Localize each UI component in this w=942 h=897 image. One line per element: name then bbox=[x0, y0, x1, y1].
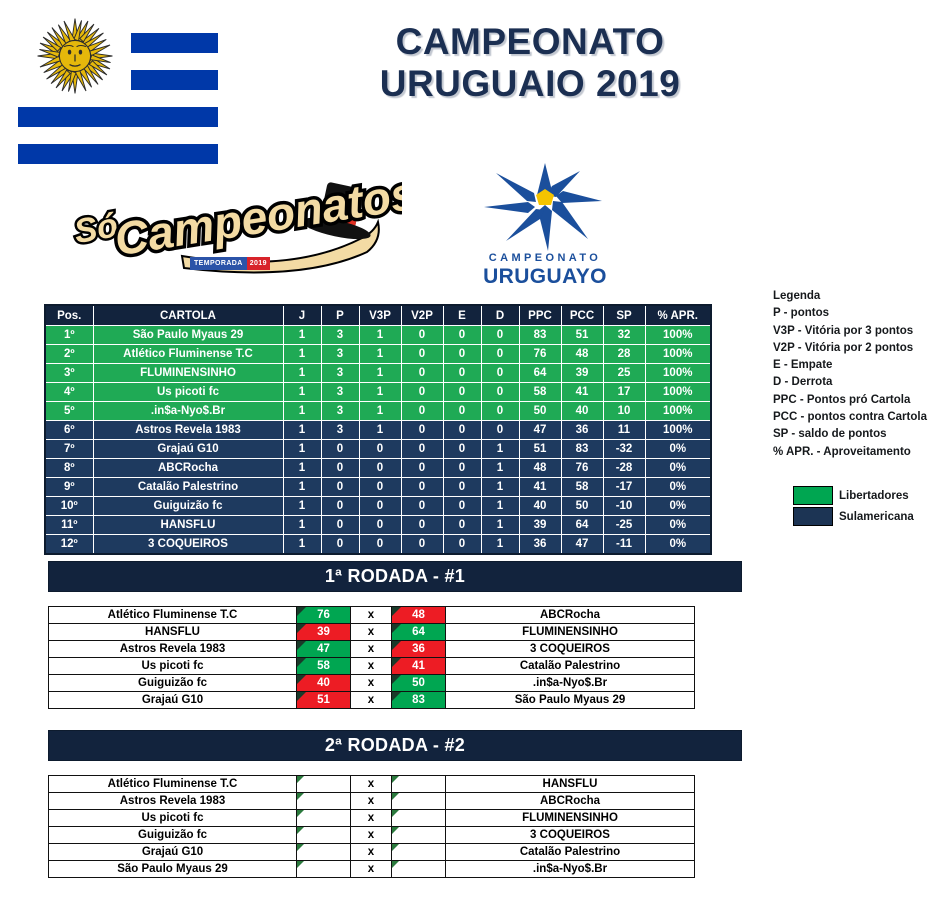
match-separator: x bbox=[351, 793, 392, 810]
standings-cell-apr: 0% bbox=[645, 516, 711, 535]
standings-cell-v3p: 1 bbox=[359, 345, 401, 364]
match-away-score[interactable] bbox=[392, 793, 446, 810]
match-away-score[interactable] bbox=[392, 776, 446, 793]
match-away-score[interactable]: 41 bbox=[392, 658, 446, 675]
standings-cell-v2p: 0 bbox=[401, 364, 443, 383]
standings-row: 5º.in$a-Nyo$.Br131000504010100% bbox=[45, 402, 711, 421]
temporada-badge-label: TEMPORADA bbox=[190, 257, 247, 270]
standings-cell-ppc: 48 bbox=[519, 459, 561, 478]
legend-line: PCC - pontos contra Cartola bbox=[773, 409, 942, 426]
standings-cell-e: 0 bbox=[443, 497, 481, 516]
match-home-team: Astros Revela 1983 bbox=[49, 641, 297, 658]
standings-cell-v3p: 1 bbox=[359, 421, 401, 440]
standings-cell-pos: 9º bbox=[45, 478, 93, 497]
match-away-team: .in$a-Nyo$.Br bbox=[446, 861, 695, 878]
standings-cell-pcc: 47 bbox=[561, 535, 603, 555]
standings-col-pcc: PCC bbox=[561, 305, 603, 326]
legend-line: V3P - Vitória por 3 pontos bbox=[773, 323, 942, 340]
match-away-team: FLUMINENSINHO bbox=[446, 810, 695, 827]
match-home-team: Us picoti fc bbox=[49, 810, 297, 827]
standings-cell-sp: 10 bbox=[603, 402, 645, 421]
match-separator: x bbox=[351, 810, 392, 827]
match-home-score[interactable] bbox=[297, 793, 351, 810]
match-away-team: Catalão Palestrino bbox=[446, 658, 695, 675]
match-away-score[interactable] bbox=[392, 810, 446, 827]
standings-cell-apr: 100% bbox=[645, 383, 711, 402]
standings-cell-ppc: 51 bbox=[519, 440, 561, 459]
match-away-score[interactable]: 48 bbox=[392, 607, 446, 624]
standings-cell-apr: 0% bbox=[645, 497, 711, 516]
legend-title: Legenda bbox=[773, 288, 942, 305]
standings-cell-pcc: 48 bbox=[561, 345, 603, 364]
standings-cell-name: Astros Revela 1983 bbox=[93, 421, 283, 440]
match-home-team: Grajaú G10 bbox=[49, 844, 297, 861]
standings-cell-name: Us picoti fc bbox=[93, 383, 283, 402]
match-row: Grajaú G1051x83São Paulo Myaus 29 bbox=[49, 692, 695, 709]
standings-cell-name: Grajaú G10 bbox=[93, 440, 283, 459]
standings-col-pos: Pos. bbox=[45, 305, 93, 326]
standings-cell-sp: 32 bbox=[603, 326, 645, 345]
legend-line: D - Derrota bbox=[773, 374, 942, 391]
standings-cell-j: 1 bbox=[283, 383, 321, 402]
match-away-score[interactable]: 64 bbox=[392, 624, 446, 641]
standings-cell-p: 3 bbox=[321, 383, 359, 402]
standings-cell-v3p: 1 bbox=[359, 364, 401, 383]
standings-cell-p: 3 bbox=[321, 326, 359, 345]
match-home-score[interactable]: 76 bbox=[297, 607, 351, 624]
standings-cell-sp: -10 bbox=[603, 497, 645, 516]
standings-cell-e: 0 bbox=[443, 364, 481, 383]
standings-cell-ppc: 36 bbox=[519, 535, 561, 555]
match-home-score[interactable]: 47 bbox=[297, 641, 351, 658]
standings-cell-pos: 11º bbox=[45, 516, 93, 535]
standings-cell-v2p: 0 bbox=[401, 421, 443, 440]
standings-cell-pos: 12º bbox=[45, 535, 93, 555]
standings-cell-pcc: 41 bbox=[561, 383, 603, 402]
standings-cell-j: 1 bbox=[283, 402, 321, 421]
match-row: Guiguizão fc40x50.in$a-Nyo$.Br bbox=[49, 675, 695, 692]
standings-cell-pcc: 40 bbox=[561, 402, 603, 421]
match-away-team: HANSFLU bbox=[446, 776, 695, 793]
match-away-team: São Paulo Myaus 29 bbox=[446, 692, 695, 709]
round-banner-1-label: 1ª RODADA - #1 bbox=[325, 566, 465, 587]
standings-cell-v3p: 1 bbox=[359, 326, 401, 345]
match-home-team: Guiguizão fc bbox=[49, 675, 297, 692]
standings-cell-d: 1 bbox=[481, 440, 519, 459]
standings-cell-pos: 3º bbox=[45, 364, 93, 383]
standings-cell-sp: 17 bbox=[603, 383, 645, 402]
standings-cell-e: 0 bbox=[443, 459, 481, 478]
standings-cell-v2p: 0 bbox=[401, 345, 443, 364]
match-away-team: 3 COQUEIROS bbox=[446, 827, 695, 844]
match-home-team: Atlético Fluminense T.C bbox=[49, 607, 297, 624]
standings-col-ppc: PPC bbox=[519, 305, 561, 326]
campeonato-uruguayo-logo: CAMPEONATO URUGUAYO bbox=[470, 155, 620, 285]
standings-cell-sp: -11 bbox=[603, 535, 645, 555]
standings-cell-j: 1 bbox=[283, 478, 321, 497]
standings-cell-pcc: 39 bbox=[561, 364, 603, 383]
legend-key-label: Libertadores bbox=[839, 490, 909, 502]
standings-cell-apr: 100% bbox=[645, 326, 711, 345]
uruguayo-logo-line-1: CAMPEONATO bbox=[470, 252, 620, 264]
standings-cell-sp: -32 bbox=[603, 440, 645, 459]
match-separator: x bbox=[351, 827, 392, 844]
legend-swatch bbox=[793, 486, 833, 505]
standings-cell-p: 3 bbox=[321, 364, 359, 383]
standings-row: 1ºSão Paulo Myaus 29131000835132100% bbox=[45, 326, 711, 345]
standings-cell-pos: 8º bbox=[45, 459, 93, 478]
legend-line: SP - saldo de pontos bbox=[773, 426, 942, 443]
match-row: Atlético Fluminense T.CxHANSFLU bbox=[49, 776, 695, 793]
page-title-line-1: CAMPEONATO bbox=[396, 22, 665, 62]
standings-cell-name: ABCRocha bbox=[93, 459, 283, 478]
standings-cell-d: 0 bbox=[481, 402, 519, 421]
standings-cell-e: 0 bbox=[443, 440, 481, 459]
standings-cell-ppc: 40 bbox=[519, 497, 561, 516]
standings-cell-e: 0 bbox=[443, 383, 481, 402]
standings-header-row: Pos. CARTOLA J P V3P V2P E D PPC PCC SP … bbox=[45, 305, 711, 326]
standings-cell-pos: 1º bbox=[45, 326, 93, 345]
match-separator: x bbox=[351, 844, 392, 861]
standings-cell-j: 1 bbox=[283, 535, 321, 555]
standings-row: 10ºGuiguizão fc1000014050-100% bbox=[45, 497, 711, 516]
standings-cell-p: 0 bbox=[321, 440, 359, 459]
match-separator: x bbox=[351, 658, 392, 675]
legend-line: PPC - Pontos pró Cartola bbox=[773, 392, 942, 409]
header-area: CAMPEONATO URUGUAIO 2019 Só Só Campeonat… bbox=[0, 0, 942, 290]
legend-line: E - Empate bbox=[773, 357, 942, 374]
match-away-score[interactable] bbox=[392, 861, 446, 878]
matches-table-round-1: Atlético Fluminense T.C76x48ABCRochaHANS… bbox=[48, 606, 695, 709]
standings-cell-pos: 10º bbox=[45, 497, 93, 516]
standings-cell-pos: 6º bbox=[45, 421, 93, 440]
match-separator: x bbox=[351, 692, 392, 709]
match-away-team: Catalão Palestrino bbox=[446, 844, 695, 861]
standings-cell-p: 0 bbox=[321, 516, 359, 535]
standings-cell-e: 0 bbox=[443, 516, 481, 535]
match-away-score[interactable]: 36 bbox=[392, 641, 446, 658]
standings-cell-v3p: 0 bbox=[359, 516, 401, 535]
standings-cell-v2p: 0 bbox=[401, 516, 443, 535]
legend-color-keys: LibertadoresSulamericana bbox=[793, 485, 914, 527]
so-campeonatos-logo: Só Só Campeonatos Campeonatos TEMPORADA … bbox=[62, 178, 402, 283]
round-banner-2: 2ª RODADA - #2 bbox=[48, 730, 742, 761]
standings-row: 4ºUs picoti fc131000584117100% bbox=[45, 383, 711, 402]
legend-line: % APR. - Aproveitamento bbox=[773, 444, 942, 461]
match-home-score[interactable]: 40 bbox=[297, 675, 351, 692]
standings-cell-name: Guiguizão fc bbox=[93, 497, 283, 516]
standings-cell-ppc: 39 bbox=[519, 516, 561, 535]
match-separator: x bbox=[351, 607, 392, 624]
legend-line: V2P - Vitória por 2 pontos bbox=[773, 340, 942, 357]
flag-stripe bbox=[131, 33, 218, 53]
standings-cell-v3p: 1 bbox=[359, 402, 401, 421]
page-title-line-2: URUGUAIO 2019 bbox=[380, 64, 681, 104]
standings-cell-name: FLUMINENSINHO bbox=[93, 364, 283, 383]
standings-cell-e: 0 bbox=[443, 535, 481, 555]
standings-cell-d: 0 bbox=[481, 326, 519, 345]
standings-cell-e: 0 bbox=[443, 421, 481, 440]
standings-row: 8ºABCRocha1000014876-280% bbox=[45, 459, 711, 478]
standings-cell-d: 1 bbox=[481, 478, 519, 497]
uruguay-flag bbox=[18, 8, 218, 168]
standings-cell-v2p: 0 bbox=[401, 402, 443, 421]
match-row: São Paulo Myaus 29x.in$a-Nyo$.Br bbox=[49, 861, 695, 878]
match-away-score[interactable] bbox=[392, 844, 446, 861]
standings-col-j: J bbox=[283, 305, 321, 326]
standings-cell-v3p: 0 bbox=[359, 440, 401, 459]
standings-cell-p: 0 bbox=[321, 478, 359, 497]
standings-cell-e: 0 bbox=[443, 345, 481, 364]
standings-cell-e: 0 bbox=[443, 326, 481, 345]
standings-cell-apr: 100% bbox=[645, 345, 711, 364]
standings-col-apr: % APR. bbox=[645, 305, 711, 326]
match-home-team: Us picoti fc bbox=[49, 658, 297, 675]
standings-col-sp: SP bbox=[603, 305, 645, 326]
standings-cell-v3p: 0 bbox=[359, 535, 401, 555]
match-away-score[interactable]: 50 bbox=[392, 675, 446, 692]
standings-cell-pos: 4º bbox=[45, 383, 93, 402]
standings-cell-apr: 100% bbox=[645, 421, 711, 440]
standings-cell-v3p: 1 bbox=[359, 383, 401, 402]
standings-table: Pos. CARTOLA J P V3P V2P E D PPC PCC SP … bbox=[44, 304, 712, 555]
match-row: Atlético Fluminense T.C76x48ABCRocha bbox=[49, 607, 695, 624]
standings-cell-v2p: 0 bbox=[401, 478, 443, 497]
standings-cell-ppc: 50 bbox=[519, 402, 561, 421]
standings-cell-pos: 2º bbox=[45, 345, 93, 364]
standings-cell-sp: -17 bbox=[603, 478, 645, 497]
match-home-score[interactable] bbox=[297, 827, 351, 844]
standings-cell-p: 3 bbox=[321, 402, 359, 421]
standings-cell-v2p: 0 bbox=[401, 497, 443, 516]
standings-cell-sp: -28 bbox=[603, 459, 645, 478]
standings-cell-j: 1 bbox=[283, 345, 321, 364]
match-home-team: Astros Revela 1983 bbox=[49, 793, 297, 810]
standings-cell-ppc: 41 bbox=[519, 478, 561, 497]
legend-key-row: Sulamericana bbox=[793, 506, 914, 527]
standings-cell-sp: -25 bbox=[603, 516, 645, 535]
standings-cell-j: 1 bbox=[283, 440, 321, 459]
match-separator: x bbox=[351, 641, 392, 658]
match-row: Us picoti fcxFLUMINENSINHO bbox=[49, 810, 695, 827]
match-row: HANSFLU39x64FLUMINENSINHO bbox=[49, 624, 695, 641]
standings-cell-apr: 0% bbox=[645, 440, 711, 459]
standings-cell-ppc: 83 bbox=[519, 326, 561, 345]
standings-cell-sp: 25 bbox=[603, 364, 645, 383]
match-home-score[interactable]: 39 bbox=[297, 624, 351, 641]
standings-cell-ppc: 64 bbox=[519, 364, 561, 383]
standings-cell-j: 1 bbox=[283, 326, 321, 345]
standings-cell-d: 1 bbox=[481, 459, 519, 478]
standings-cell-p: 0 bbox=[321, 535, 359, 555]
legend-swatch bbox=[793, 507, 833, 526]
legend-key-label: Sulamericana bbox=[839, 511, 914, 523]
standings-cell-v3p: 0 bbox=[359, 459, 401, 478]
standings-cell-name: HANSFLU bbox=[93, 516, 283, 535]
standings-cell-pcc: 58 bbox=[561, 478, 603, 497]
standings-cell-pcc: 36 bbox=[561, 421, 603, 440]
standings-cell-v2p: 0 bbox=[401, 459, 443, 478]
match-home-score[interactable]: 58 bbox=[297, 658, 351, 675]
standings-cell-apr: 100% bbox=[645, 402, 711, 421]
standings-col-v2p: V2P bbox=[401, 305, 443, 326]
standings-row: 7ºGrajaú G101000015183-320% bbox=[45, 440, 711, 459]
standings-cell-pos: 7º bbox=[45, 440, 93, 459]
standings-cell-apr: 0% bbox=[645, 478, 711, 497]
standings-cell-v2p: 0 bbox=[401, 440, 443, 459]
match-home-team: Guiguizão fc bbox=[49, 827, 297, 844]
standings-cell-d: 1 bbox=[481, 516, 519, 535]
standings-cell-name: .in$a-Nyo$.Br bbox=[93, 402, 283, 421]
match-home-score[interactable] bbox=[297, 844, 351, 861]
standings-cell-v2p: 0 bbox=[401, 383, 443, 402]
standings-cell-apr: 0% bbox=[645, 459, 711, 478]
match-away-score[interactable]: 83 bbox=[392, 692, 446, 709]
standings-cell-apr: 100% bbox=[645, 364, 711, 383]
legend-panel: Legenda P - pontosV3P - Vitória por 3 po… bbox=[773, 288, 942, 461]
standings-cell-j: 1 bbox=[283, 421, 321, 440]
legend-line: P - pontos bbox=[773, 305, 942, 322]
standings-cell-ppc: 58 bbox=[519, 383, 561, 402]
match-away-score[interactable] bbox=[392, 827, 446, 844]
standings-cell-pcc: 51 bbox=[561, 326, 603, 345]
match-home-score[interactable] bbox=[297, 861, 351, 878]
standings-cell-v2p: 0 bbox=[401, 535, 443, 555]
match-away-team: FLUMINENSINHO bbox=[446, 624, 695, 641]
match-home-team: Grajaú G10 bbox=[49, 692, 297, 709]
standings-cell-p: 0 bbox=[321, 459, 359, 478]
standings-row: 9ºCatalão Palestrino1000014158-170% bbox=[45, 478, 711, 497]
standings-col-e: E bbox=[443, 305, 481, 326]
match-away-team: ABCRocha bbox=[446, 607, 695, 624]
standings-cell-v3p: 0 bbox=[359, 497, 401, 516]
temporada-badge-year: 2019 bbox=[247, 257, 270, 270]
standings-cell-e: 0 bbox=[443, 402, 481, 421]
standings-col-v3p: V3P bbox=[359, 305, 401, 326]
standings-col-p: P bbox=[321, 305, 359, 326]
standings-cell-pcc: 83 bbox=[561, 440, 603, 459]
standings-col-d: D bbox=[481, 305, 519, 326]
standings-cell-v2p: 0 bbox=[401, 326, 443, 345]
match-row: Guiguizão fcx3 COQUEIROS bbox=[49, 827, 695, 844]
standings-col-name: CARTOLA bbox=[93, 305, 283, 326]
standings-cell-p: 0 bbox=[321, 497, 359, 516]
match-row: Astros Revela 198347x363 COQUEIROS bbox=[49, 641, 695, 658]
standings-cell-p: 3 bbox=[321, 345, 359, 364]
match-separator: x bbox=[351, 861, 392, 878]
flag-stripe bbox=[18, 144, 218, 164]
match-row: Astros Revela 1983xABCRocha bbox=[49, 793, 695, 810]
match-separator: x bbox=[351, 624, 392, 641]
match-row: Us picoti fc58x41Catalão Palestrino bbox=[49, 658, 695, 675]
standings-cell-ppc: 76 bbox=[519, 345, 561, 364]
standings-cell-j: 1 bbox=[283, 516, 321, 535]
standings-cell-sp: 28 bbox=[603, 345, 645, 364]
standings-cell-j: 1 bbox=[283, 497, 321, 516]
match-home-team: Atlético Fluminense T.C bbox=[49, 776, 297, 793]
standings-cell-apr: 0% bbox=[645, 535, 711, 555]
round-banner-2-label: 2ª RODADA - #2 bbox=[325, 735, 465, 756]
standings-cell-v3p: 0 bbox=[359, 478, 401, 497]
standings-cell-j: 1 bbox=[283, 364, 321, 383]
standings-cell-e: 0 bbox=[443, 478, 481, 497]
standings-cell-d: 0 bbox=[481, 421, 519, 440]
standings-row: 2ºAtlético Fluminense T.C131000764828100… bbox=[45, 345, 711, 364]
standings-row: 3ºFLUMINENSINHO131000643925100% bbox=[45, 364, 711, 383]
match-home-score[interactable] bbox=[297, 810, 351, 827]
standings-cell-d: 1 bbox=[481, 535, 519, 555]
standings-row: 6ºAstros Revela 1983131000473611100% bbox=[45, 421, 711, 440]
match-home-score[interactable]: 51 bbox=[297, 692, 351, 709]
standings-cell-name: Atlético Fluminense T.C bbox=[93, 345, 283, 364]
match-away-team: 3 COQUEIROS bbox=[446, 641, 695, 658]
standings-cell-pos: 5º bbox=[45, 402, 93, 421]
legend-key-row: Libertadores bbox=[793, 485, 914, 506]
match-home-team: HANSFLU bbox=[49, 624, 297, 641]
standings-cell-p: 3 bbox=[321, 421, 359, 440]
match-away-team: .in$a-Nyo$.Br bbox=[446, 675, 695, 692]
standings-cell-d: 0 bbox=[481, 383, 519, 402]
round-banner-1: 1ª RODADA - #1 bbox=[48, 561, 742, 592]
standings-cell-name: Catalão Palestrino bbox=[93, 478, 283, 497]
flag-stripe bbox=[131, 70, 218, 90]
standings-cell-d: 1 bbox=[481, 497, 519, 516]
standings-cell-d: 0 bbox=[481, 364, 519, 383]
match-separator: x bbox=[351, 776, 392, 793]
standings-row: 12º3 COQUEIROS1000013647-110% bbox=[45, 535, 711, 555]
standings-cell-j: 1 bbox=[283, 459, 321, 478]
standings-cell-name: 3 COQUEIROS bbox=[93, 535, 283, 555]
match-row: Grajaú G10xCatalão Palestrino bbox=[49, 844, 695, 861]
standings-cell-pcc: 64 bbox=[561, 516, 603, 535]
match-home-team: São Paulo Myaus 29 bbox=[49, 861, 297, 878]
standings-cell-ppc: 47 bbox=[519, 421, 561, 440]
standings-cell-name: São Paulo Myaus 29 bbox=[93, 326, 283, 345]
standings-cell-sp: 11 bbox=[603, 421, 645, 440]
flag-stripe bbox=[18, 107, 218, 127]
match-separator: x bbox=[351, 675, 392, 692]
matches-table-round-2: Atlético Fluminense T.CxHANSFLUAstros Re… bbox=[48, 775, 695, 878]
standings-cell-d: 0 bbox=[481, 345, 519, 364]
uruguayo-star-icon bbox=[470, 155, 620, 255]
standings-cell-pcc: 76 bbox=[561, 459, 603, 478]
standings-row: 11ºHANSFLU1000013964-250% bbox=[45, 516, 711, 535]
standings-cell-pcc: 50 bbox=[561, 497, 603, 516]
sun-of-may-icon bbox=[36, 17, 114, 95]
uruguayo-logo-line-2: URUGUAYO bbox=[470, 265, 620, 289]
temporada-badge: TEMPORADA 2019 bbox=[190, 257, 270, 270]
match-away-team: ABCRocha bbox=[446, 793, 695, 810]
page-title: CAMPEONATO URUGUAIO 2019 bbox=[300, 8, 760, 118]
match-home-score[interactable] bbox=[297, 776, 351, 793]
